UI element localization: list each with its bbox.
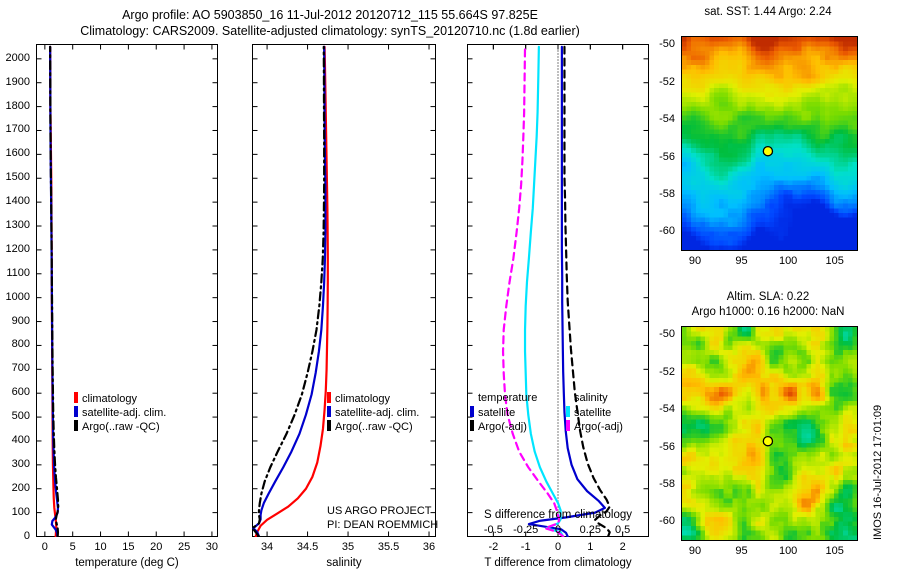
temperature-legend-item: Argo(..raw -QC) bbox=[74, 419, 166, 433]
legend-color-swatch bbox=[74, 392, 78, 403]
temperature-tick-label: 15 bbox=[122, 541, 134, 553]
temperature-xticks: 051015202530 bbox=[36, 540, 218, 556]
sst-map-lon-tick-label: 100 bbox=[779, 255, 797, 267]
difference-xlabel-bottom: T difference from climatology bbox=[467, 557, 649, 569]
sst-map-frame bbox=[681, 36, 858, 251]
salinity-legend-item: Argo(..raw -QC) bbox=[327, 419, 419, 433]
depth-tick-label: 500 bbox=[12, 410, 30, 422]
depth-tick-label: 1300 bbox=[6, 219, 30, 231]
sst-map-lat-tick-label: -54 bbox=[659, 113, 675, 125]
sst-map-xticks: 9095100105 bbox=[681, 254, 858, 270]
difference-tick-label: -2 bbox=[488, 541, 498, 553]
temperature-legend: climatologysatellite-adj. clim.Argo(..ra… bbox=[74, 391, 166, 433]
sla-map-xticks: 9095100105 bbox=[681, 544, 858, 560]
salinity-tick-label: 36 bbox=[423, 541, 435, 553]
difference-legend-group: temperaturesatelliteArgo(-adj) bbox=[470, 391, 552, 433]
sla-map-title-line2: Argo h1000: 0.16 h2000: NaN bbox=[650, 306, 886, 318]
sst-map-lat-tick-label: -58 bbox=[659, 188, 675, 200]
sst-map-lon-tick-label: 95 bbox=[735, 255, 747, 267]
salinity-tick-label: 35.5 bbox=[378, 541, 399, 553]
difference-tick-label: 2 bbox=[620, 541, 626, 553]
temperature-tick-label: 25 bbox=[178, 541, 190, 553]
legend-group-heading: temperature bbox=[478, 391, 552, 405]
difference-top-tick-label: 0.5 bbox=[615, 524, 630, 536]
depth-tick-label: 1700 bbox=[6, 123, 30, 135]
temperature-xlabel: temperature (deg C) bbox=[36, 557, 218, 569]
difference-xticks-top: -0.5-0.2500.250.5 bbox=[467, 523, 649, 537]
legend-label: climatology bbox=[335, 393, 390, 405]
salinity-legend-item: climatology bbox=[327, 391, 419, 405]
depth-tick-label: 0 bbox=[24, 530, 30, 542]
salinity-xticks: 3434.53535.536 bbox=[252, 540, 436, 556]
temperature-tick-label: 0 bbox=[42, 541, 48, 553]
legend-color-swatch bbox=[74, 406, 78, 417]
temperature-plot bbox=[36, 44, 218, 537]
depth-tick-label: 1500 bbox=[6, 171, 30, 183]
difference-top-tick-label: -0.25 bbox=[513, 524, 538, 536]
sla-map-frame bbox=[681, 326, 858, 541]
depth-tick-label: 300 bbox=[12, 458, 30, 470]
legend-label: Argo(-adj) bbox=[574, 421, 623, 433]
legend-color-swatch bbox=[566, 420, 570, 431]
legend-label: Argo(..raw -QC) bbox=[335, 421, 413, 433]
sla-map-lon-tick-label: 90 bbox=[689, 545, 701, 557]
difference-top-tick-label: 0.25 bbox=[580, 524, 601, 536]
depth-tick-label: 1100 bbox=[6, 267, 30, 279]
depth-tick-label: 1600 bbox=[6, 147, 30, 159]
legend-color-swatch bbox=[470, 406, 474, 417]
sla-map-lat-tick-label: -58 bbox=[659, 478, 675, 490]
sst-map-lat-tick-label: -60 bbox=[659, 225, 675, 237]
sla-map-lon-tick-label: 105 bbox=[826, 545, 844, 557]
sla-map-lat-tick-label: -60 bbox=[659, 515, 675, 527]
temperature-tick-label: 30 bbox=[206, 541, 218, 553]
sst-map-lat-tick-label: -50 bbox=[659, 38, 675, 50]
sla-map-lon-tick-label: 95 bbox=[735, 545, 747, 557]
sst-map-title: sat. SST: 1.44 Argo: 2.24 bbox=[668, 6, 868, 18]
imos-timestamp: IMOS 16-Jul-2012 17:01:09 bbox=[872, 526, 884, 540]
depth-tick-label: 1000 bbox=[6, 291, 30, 303]
depth-tick-label: 400 bbox=[12, 434, 30, 446]
depth-tick-label: 1200 bbox=[6, 243, 30, 255]
depth-tick-label: 100 bbox=[12, 506, 30, 518]
difference-tick-label: 0 bbox=[555, 541, 561, 553]
depth-tick-label: 600 bbox=[12, 386, 30, 398]
temperature-yticks: 0100200300400500600700800900100011001200… bbox=[0, 44, 33, 537]
sst-map-yticks: -50-52-54-56-58-60 bbox=[648, 36, 679, 251]
sla-map-raster bbox=[682, 327, 857, 540]
salinity-panel bbox=[252, 44, 436, 537]
legend-label: satellite bbox=[574, 407, 611, 419]
depth-tick-label: 1800 bbox=[6, 100, 30, 112]
sla-map-title-line1: Altim. SLA: 0.22 bbox=[668, 291, 868, 303]
temperature-tick-label: 20 bbox=[150, 541, 162, 553]
depth-tick-label: 700 bbox=[12, 362, 30, 374]
salinity-tick-label: 34.5 bbox=[297, 541, 318, 553]
difference-legend-item: Argo(-adj) bbox=[566, 419, 648, 433]
salinity-tick-label: 35 bbox=[342, 541, 354, 553]
legend-color-swatch bbox=[327, 406, 331, 417]
difference-tick-label: 1 bbox=[587, 541, 593, 553]
temperature-tick-label: 10 bbox=[94, 541, 106, 553]
difference-legend: temperaturesatelliteArgo(-adj)salinitysa… bbox=[470, 391, 650, 433]
temperature-legend-item: climatology bbox=[74, 391, 166, 405]
sla-map-yticks: -50-52-54-56-58-60 bbox=[648, 326, 679, 541]
legend-color-swatch bbox=[327, 392, 331, 403]
sla-map-lon-tick-label: 100 bbox=[779, 545, 797, 557]
sla-map-lat-tick-label: -56 bbox=[659, 441, 675, 453]
difference-legend-item: Argo(-adj) bbox=[470, 419, 552, 433]
figure-title-line2: Climatology: CARS2009. Satellite-adjuste… bbox=[0, 24, 660, 38]
salinity-legend-item: satellite-adj. clim. bbox=[327, 405, 419, 419]
difference-legend-item: satellite bbox=[566, 405, 648, 419]
legend-label: satellite-adj. clim. bbox=[335, 407, 419, 419]
difference-panel bbox=[467, 44, 649, 537]
difference-legend-item: satellite bbox=[470, 405, 552, 419]
difference-top-tick-label: -0.5 bbox=[484, 524, 503, 536]
sla-map-lat-tick-label: -50 bbox=[659, 328, 675, 340]
depth-tick-label: 200 bbox=[12, 482, 30, 494]
legend-color-swatch bbox=[74, 420, 78, 431]
credit-line2: PI: DEAN ROEMMICH bbox=[327, 519, 438, 531]
difference-xticks-bottom: -2-1012 bbox=[467, 540, 649, 556]
credit-line1: US ARGO PROJECT bbox=[327, 505, 432, 517]
difference-xlabel-top: S difference from climatology bbox=[460, 509, 656, 521]
sst-map-lat-tick-label: -56 bbox=[659, 151, 675, 163]
salinity-legend: climatologysatellite-adj. clim.Argo(..ra… bbox=[327, 391, 419, 433]
sla-map-lat-tick-label: -52 bbox=[659, 366, 675, 378]
legend-color-swatch bbox=[470, 420, 474, 431]
difference-legend-group: salinitysatelliteArgo(-adj) bbox=[566, 391, 648, 433]
temperature-tick-label: 5 bbox=[70, 541, 76, 553]
difference-top-tick-label: 0 bbox=[555, 524, 561, 536]
depth-tick-label: 800 bbox=[12, 338, 30, 350]
salinity-xlabel: salinity bbox=[252, 557, 436, 569]
legend-label: Argo(..raw -QC) bbox=[82, 421, 160, 433]
legend-group-heading: salinity bbox=[574, 391, 648, 405]
figure-title-line1: Argo profile: AO 5903850_16 11-Jul-2012 … bbox=[0, 8, 660, 22]
sla-map-lat-tick-label: -54 bbox=[659, 403, 675, 415]
sst-map-lon-tick-label: 105 bbox=[826, 255, 844, 267]
temperature-legend-item: satellite-adj. clim. bbox=[74, 405, 166, 419]
depth-tick-label: 2000 bbox=[6, 52, 30, 64]
depth-tick-label: 1400 bbox=[6, 195, 30, 207]
depth-tick-label: 900 bbox=[12, 315, 30, 327]
sst-map-lon-tick-label: 90 bbox=[689, 255, 701, 267]
difference-tick-label: -1 bbox=[521, 541, 531, 553]
legend-label: Argo(-adj) bbox=[478, 421, 527, 433]
salinity-tick-label: 34 bbox=[261, 541, 273, 553]
depth-tick-label: 1900 bbox=[6, 76, 30, 88]
sst-map-raster bbox=[682, 37, 857, 250]
legend-color-swatch bbox=[566, 406, 570, 417]
temperature-panel bbox=[36, 44, 218, 537]
legend-color-swatch bbox=[327, 420, 331, 431]
legend-label: climatology bbox=[82, 393, 137, 405]
legend-label: satellite-adj. clim. bbox=[82, 407, 166, 419]
difference-plot bbox=[467, 44, 649, 537]
legend-label: satellite bbox=[478, 407, 515, 419]
sst-map-lat-tick-label: -52 bbox=[659, 76, 675, 88]
salinity-plot bbox=[252, 44, 436, 537]
